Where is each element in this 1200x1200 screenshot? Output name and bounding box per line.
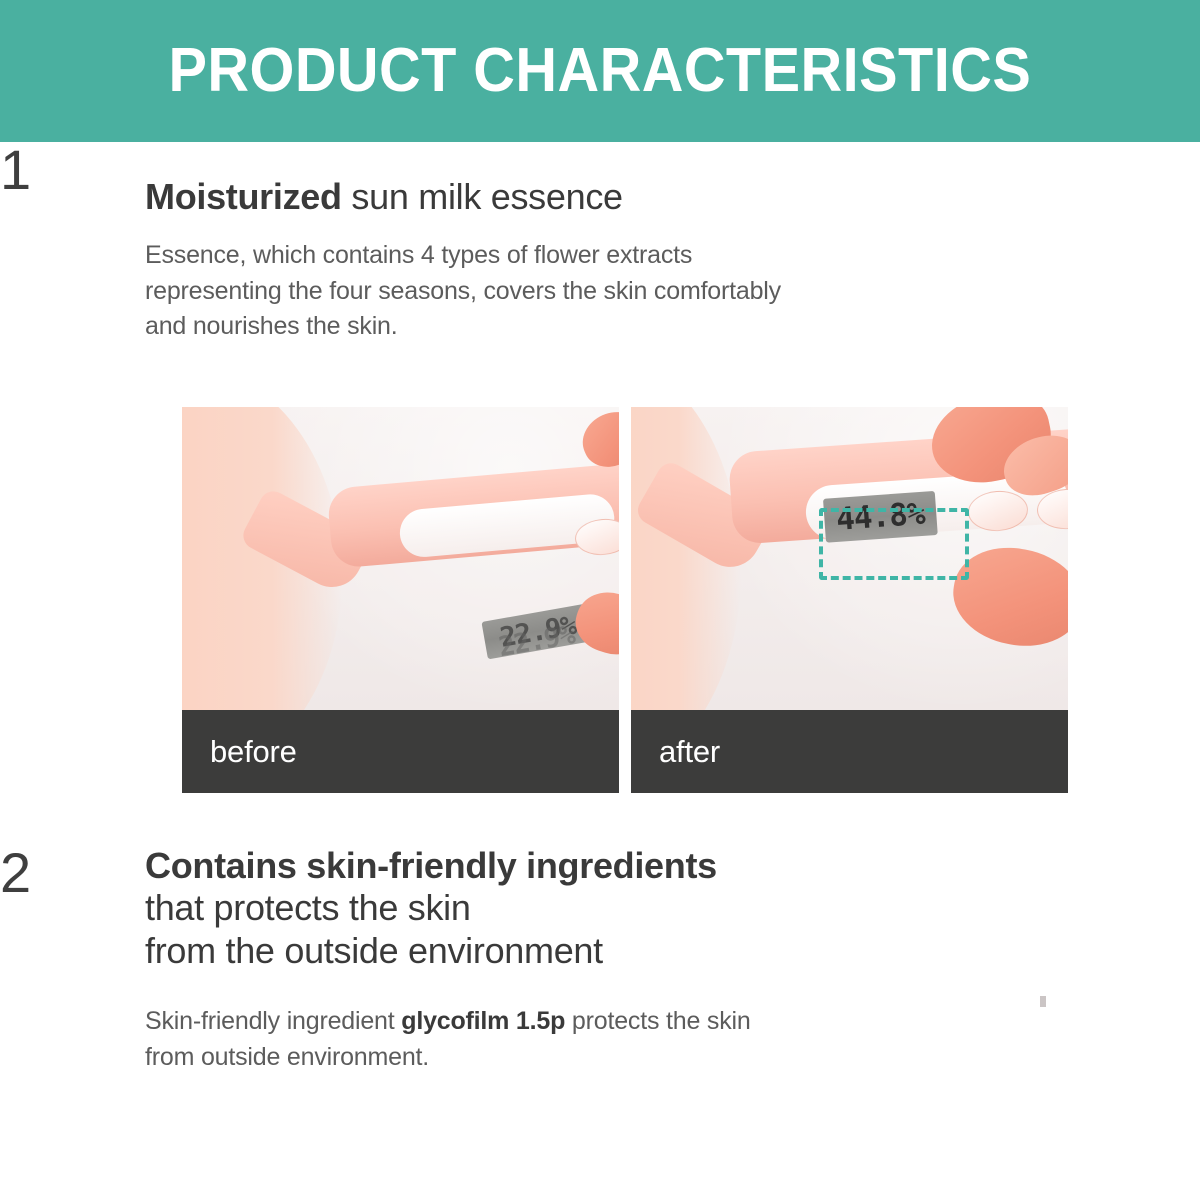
before-panel: 22.9% before (182, 407, 619, 793)
section-2-row: 2 Contains skin-friendly ingredients tha… (0, 845, 1200, 1075)
section-1-number: 1 (0, 142, 60, 198)
finger-bottom (568, 584, 619, 663)
section-1-heading: Moisturized sun milk essence (145, 176, 1200, 218)
section-2-heading-line-3: from the outside environment (145, 930, 1200, 972)
lcd-highlight-dashed-box (819, 508, 969, 580)
section-1-body: Essence, which contains 4 types of flowe… (145, 238, 1200, 345)
after-caption-bar: after (631, 710, 1068, 793)
section-2-heading: Contains skin-friendly ingredients that … (145, 845, 1200, 972)
section-2-body-pre: Skin-friendly ingredient (145, 1007, 401, 1035)
section-1: 1 Moisturized sun milk essence Essence, … (0, 142, 1200, 345)
section-2-body-line-1: Skin-friendly ingredient glycofilm 1.5p … (145, 1004, 1200, 1040)
section-1-body-line-2: representing the four seasons, covers th… (145, 274, 1200, 310)
section-1-body-line-1: Essence, which contains 4 types of flowe… (145, 238, 1200, 274)
before-caption-bar: before (182, 710, 619, 793)
before-caption-label: before (182, 734, 297, 770)
after-caption-label: after (631, 734, 720, 770)
section-2-body-post: protects the skin (565, 1007, 750, 1035)
section-2-heading-line-2: that protects the skin (145, 887, 1200, 929)
before-after-comparison: 22.9% before 44.8% (182, 407, 1068, 793)
section-2-body: Skin-friendly ingredient glycofilm 1.5p … (145, 1004, 1200, 1075)
section-1-row: 1 Moisturized sun milk essence Essence, … (0, 142, 1200, 345)
before-photo: 22.9% (182, 407, 619, 710)
section-2-body-ingredient: glycofilm 1.5p (401, 1007, 565, 1035)
section-1-body-line-3: and nourishes the skin. (145, 309, 1200, 345)
finger-top (574, 407, 619, 475)
section-2-body-line-2: from outside environment. (145, 1040, 1200, 1076)
page-header-bar: PRODUCT CHARACTERISTICS (0, 0, 1200, 142)
image-artifact-speck (1040, 996, 1046, 1007)
section-1-heading-bold: Moisturized (145, 176, 342, 217)
after-panel: 44.8% Moisture up by 21% after (631, 407, 1068, 793)
lcd-reading: 22.9% (498, 611, 578, 651)
section-1-heading-rest: sun milk essence (342, 176, 623, 217)
page-title: PRODUCT CHARACTERISTICS (169, 40, 1032, 102)
section-2: 2 Contains skin-friendly ingredients tha… (0, 845, 1200, 1075)
section-2-heading-line-1: Contains skin-friendly ingredients (145, 845, 1200, 887)
after-photo: 44.8% Moisture up by 21% (631, 407, 1068, 710)
section-2-number: 2 (0, 845, 60, 901)
